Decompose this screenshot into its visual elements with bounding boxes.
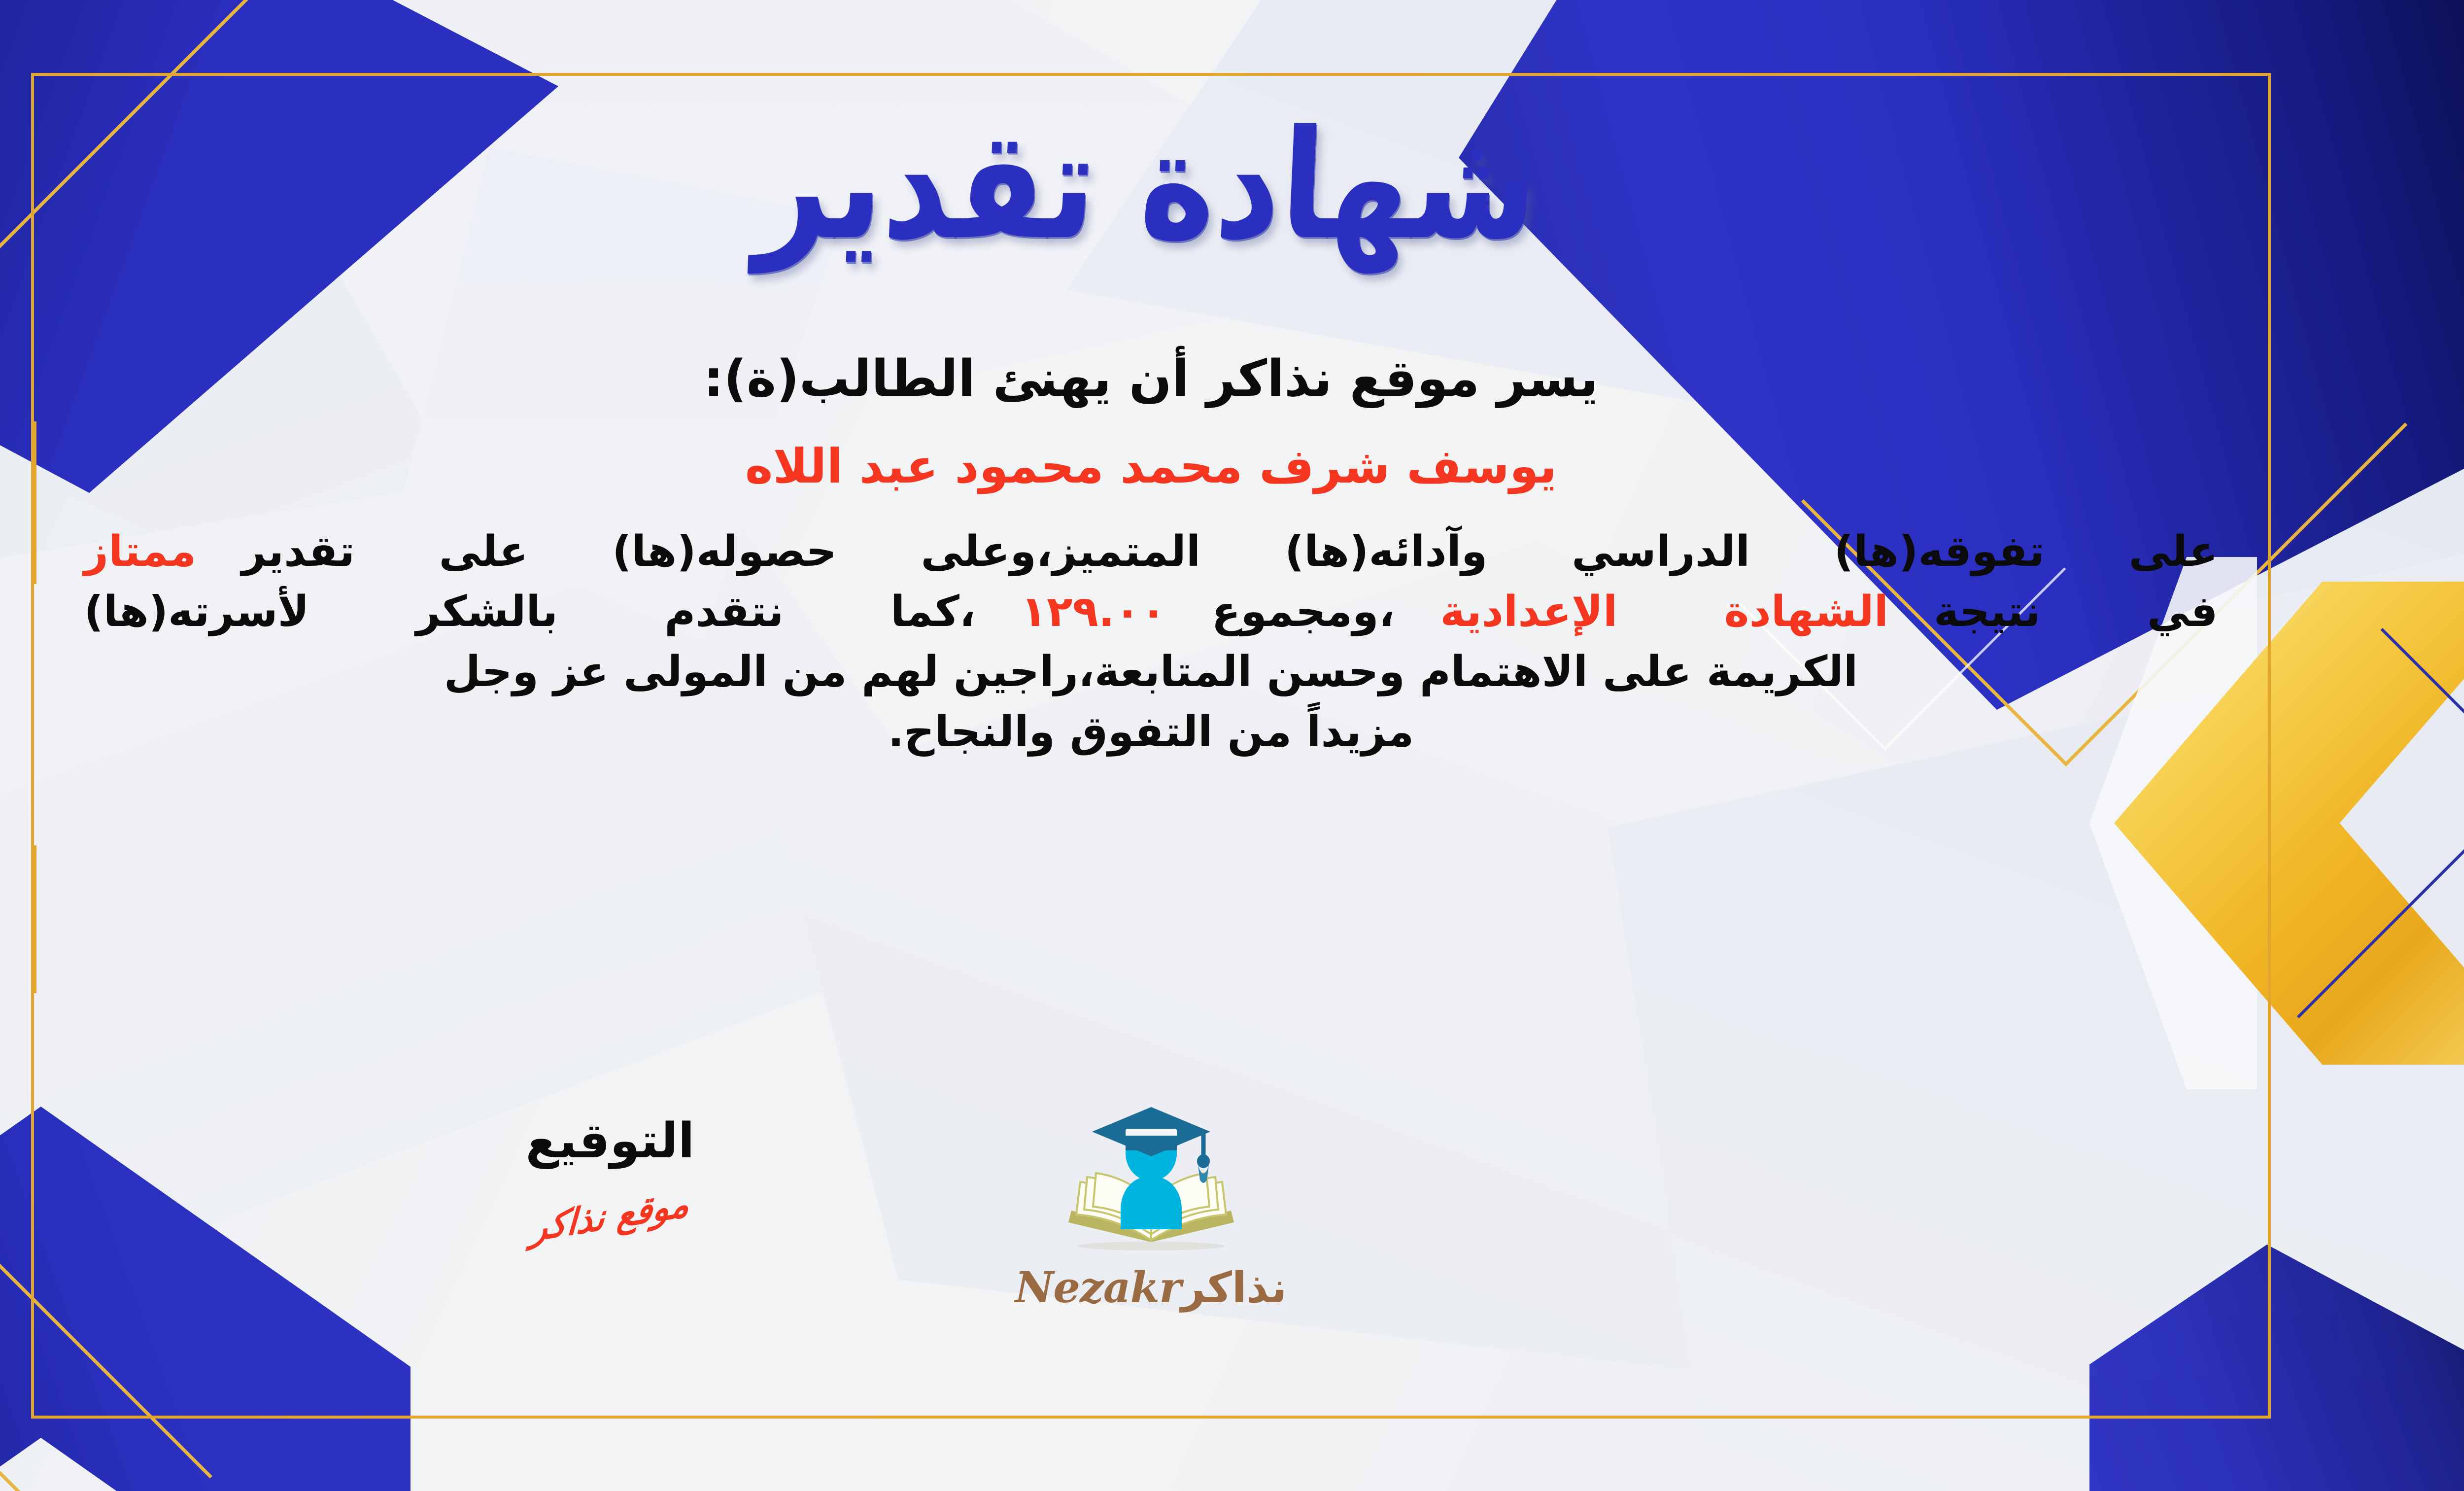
exam-prefix-text: في نتيجة [1934,587,2218,636]
certificate-footer: التوقيع موقع نذاكر [31,1093,2271,1399]
student-name: يوسف شرف محمد محمود عبد اللاه [745,439,1557,494]
grade-value: ممتاز [84,527,197,576]
certificate-canvas: شهادة تقدير يسر موقع نذاكر أن يهنئ الطال… [0,0,2464,1491]
logo-latin-text: Nezakr [1015,1263,1181,1313]
body-line-4: مزيداً من التفوق والنجاح. [84,702,2218,762]
brand-logo: نذاكرNezakr [984,1098,1319,1313]
congratulation-intro-text: يسر موقع نذاكر أن يهنئ الطالب(ة): [704,349,1599,408]
thanks-prefix-text: ،كما نتقدم بالشكر لأسرته(ها) [84,587,976,636]
certificate-content: شهادة تقدير يسر موقع نذاكر أن يهنئ الطال… [31,73,2271,1419]
signature-label: التوقيع [423,1113,797,1169]
signature-block: التوقيع موقع نذاكر [423,1113,797,1237]
body-line-1: على تفوقه(ها) الدراسي وآدائه(ها) المتميز… [84,521,2218,582]
body-line-3: الكريمة على الاهتمام وحسن المتابعة،راجين… [84,642,2218,702]
graduate-book-icon [1048,1098,1255,1261]
logo-arabic-text: نذاكر [1181,1263,1287,1313]
body-line-1-text: على تفوقه(ها) الدراسي وآدائه(ها) المتميز… [241,527,2218,576]
certificate-body-paragraph: على تفوقه(ها) الدراسي وآدائه(ها) المتميز… [84,521,2218,762]
body-line-2: في نتيجةالشهادة الإعدادية،ومجموع١٢٩.٠٠،ك… [84,582,2218,642]
total-prefix-text: ،ومجموع [1212,587,1395,636]
logo-wordmark: نذاكرNezakr [984,1263,1319,1313]
signature-handwriting: موقع نذاكر [530,1182,690,1250]
exam-name-value: الشهادة الإعدادية [1440,587,1888,636]
certificate-title: شهادة تقدير [753,102,1541,270]
total-score-value: ١٢٩.٠٠ [1021,587,1166,636]
